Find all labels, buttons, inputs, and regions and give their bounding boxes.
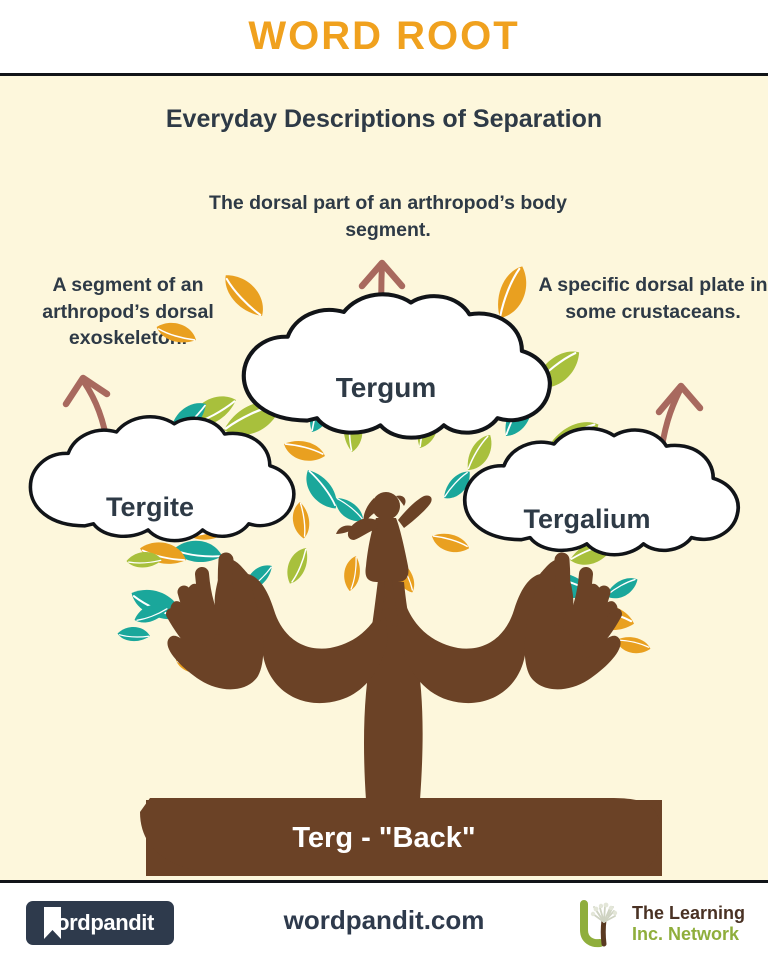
tree-logo-icon [574, 898, 626, 950]
partner-name-line1: The Learning [632, 903, 745, 924]
footer-bar: ordpandit wordpandit.com The Learni [0, 880, 768, 960]
cloud-tergalium [465, 428, 738, 554]
partner-name-line2: Inc. Network [632, 924, 745, 945]
cloud-tergite [30, 417, 293, 541]
tree-illustration [0, 0, 768, 960]
learning-network-logo[interactable]: The Learning Inc. Network [574, 897, 752, 951]
infographic-poster: WORD ROOT Everyday Descriptions of Separ… [0, 0, 768, 960]
root-word-label: Terg - "Back" [0, 822, 768, 855]
